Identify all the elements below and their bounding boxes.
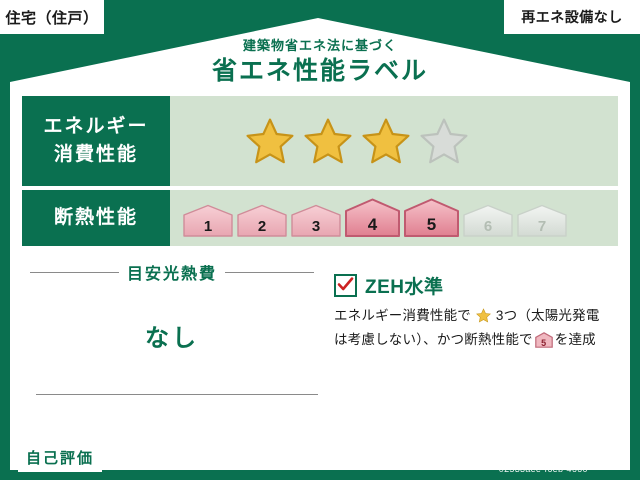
insulation-level-number: 1 — [182, 218, 234, 235]
housing-type-tag: 住宅（住戸） — [0, 0, 104, 34]
utility-cost-heading: 目安光熱費 — [22, 254, 322, 284]
insulation-level-number: 4 — [344, 215, 401, 235]
zeh-desc-part2: は考慮しない）、かつ断熱性能で — [334, 332, 533, 347]
insulation-level-number: 2 — [236, 218, 288, 235]
energy-performance-row: エネルギー 消費性能 — [22, 96, 618, 186]
star-icon-filled — [246, 117, 294, 165]
heading-rule-left — [30, 272, 119, 273]
insulation-level-number: 3 — [290, 218, 342, 235]
star-icon-inline — [472, 311, 495, 326]
lower-section: 目安光熱費 なし ZEH水準 エネルギー消費性能で — [22, 254, 618, 430]
insulation-level-5: 5 — [403, 198, 460, 238]
energy-performance-label: 住宅（住戸） 再エネ設備なし 建築物省エネ法に基づく 省エネ性能ラベル エネルギ… — [0, 0, 640, 480]
insulation-level-number: 5 — [403, 215, 460, 235]
house-icon-level: 5 — [535, 339, 553, 348]
zeh-desc-part1: エネルギー消費性能で — [334, 308, 471, 323]
zeh-section: ZEH水準 エネルギー消費性能で 3つ（太陽光発電 は考慮しない）、かつ断熱性能… — [334, 272, 614, 351]
utility-cost-value: なし — [22, 318, 322, 353]
utility-cost-bottom-rule — [36, 394, 318, 395]
footer-meta: 評価日 2025年1月31日 02533aee-f6eb-4660 — [469, 441, 618, 474]
energy-performance-body — [170, 96, 618, 186]
insulation-level-4: 4 — [344, 198, 401, 238]
insulation-performance-label: 断熱性能 — [22, 190, 170, 246]
property-address: 浜松市中央区中島第1(2棟)1号棟24455300100 — [110, 449, 341, 465]
heading-rule-right — [225, 272, 314, 273]
star-icon-filled — [362, 117, 410, 165]
house-icon-inline: 5 — [535, 332, 553, 348]
star-rating — [170, 117, 468, 165]
evaluation-date: 評価日 2025年1月31日 — [469, 441, 618, 461]
renewable-energy-tag: 再エネ設備なし — [504, 0, 640, 34]
insulation-performance-row: 断熱性能 1234567 — [22, 190, 618, 246]
insulation-level-3: 3 — [290, 204, 342, 238]
utility-cost-heading-text: 目安光熱費 — [127, 260, 217, 284]
energy-performance-label: エネルギー 消費性能 — [22, 96, 170, 186]
energy-label-line2: 消費性能 — [54, 141, 138, 170]
insulation-level-number: 6 — [462, 218, 514, 235]
label-panel: エネルギー 消費性能 断熱性能 1234567 目安光熱費 — [22, 96, 618, 430]
document-id: 02533aee-f6eb-4660 — [469, 464, 618, 474]
energy-label-line1: エネルギー — [43, 113, 148, 142]
insulation-scale: 1234567 — [170, 198, 568, 238]
zeh-desc-part3: を達成 — [555, 332, 596, 347]
utility-cost-section: 目安光熱費 なし — [22, 254, 322, 430]
insulation-level-6: 6 — [462, 204, 514, 238]
label-footer: 自己評価 浜松市中央区中島第1(2棟)1号棟24455300100 評価日 20… — [0, 434, 640, 480]
checkmark-icon — [334, 274, 357, 297]
insulation-level-1: 1 — [182, 204, 234, 238]
zeh-description: エネルギー消費性能で 3つ（太陽光発電 は考慮しない）、かつ断熱性能で 5 を達… — [334, 306, 614, 351]
insulation-level-7: 7 — [516, 204, 568, 238]
heading-title: 省エネ性能ラベル — [0, 56, 640, 86]
insulation-label-text: 断熱性能 — [54, 204, 138, 233]
heading-subtitle: 建築物省エネ法に基づく — [0, 38, 640, 54]
star-icon-filled — [304, 117, 352, 165]
zeh-title: ZEH水準 — [365, 272, 444, 299]
self-evaluation-badge: 自己評価 — [18, 443, 102, 472]
label-heading: 建築物省エネ法に基づく 省エネ性能ラベル — [0, 38, 640, 86]
insulation-level-2: 2 — [236, 204, 288, 238]
insulation-performance-body: 1234567 — [170, 190, 618, 246]
star-icon-empty — [420, 117, 468, 165]
zeh-title-row: ZEH水準 — [334, 272, 614, 299]
zeh-desc-star-count: 3つ（太陽光発電 — [496, 308, 600, 323]
insulation-level-number: 7 — [516, 218, 568, 235]
